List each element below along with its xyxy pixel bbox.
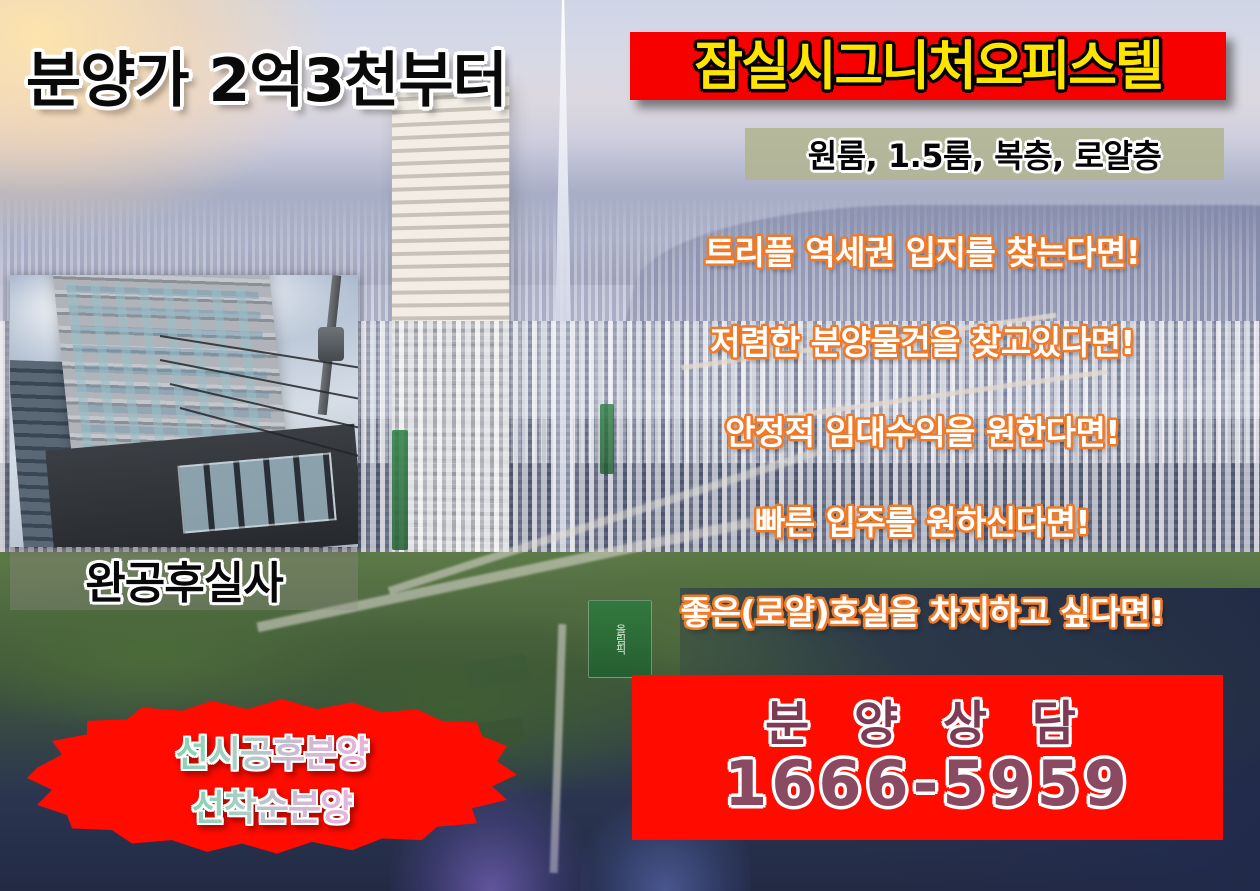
unit-types-text: 원룸, 1.5룸, 복층, 로얄층	[808, 131, 1162, 177]
selling-point-1: 트리플 역세권 입지를 찾는다면!	[600, 226, 1245, 274]
unit-types-bar: 원룸, 1.5룸, 복층, 로얄층	[745, 128, 1224, 180]
photo-podium-windows	[177, 452, 336, 533]
promo-gear-badge: 선시공후분양 선착순분양	[22, 694, 522, 862]
selling-point-4: 빠른 입주를 원하신다면!	[600, 496, 1245, 544]
price-headline: 분양가 2억3천부터	[26, 32, 507, 119]
selling-point-3: 안정적 임대수익을 원한다면!	[600, 406, 1245, 454]
advertisement-poster: 올림픽 분양가 2억3천부터 잠실시그니처오피스텔 원룸, 1.5룸, 복층, …	[0, 0, 1260, 891]
street-sign-green-1	[392, 430, 408, 550]
contact-box[interactable]: 분 양 상 담 1666-5959	[632, 675, 1223, 840]
gear-badge-text: 선시공후분양 선착순분양	[22, 694, 522, 862]
selling-point-2: 저렴한 분양물건을 찾고있다면!	[600, 316, 1245, 364]
property-name-title: 잠실시그니처오피스텔	[694, 40, 1162, 93]
photo-caption-strip: 완공후실사	[10, 548, 358, 610]
photo-transformer	[318, 327, 344, 361]
completed-building-photo	[10, 275, 358, 547]
contact-phone-number[interactable]: 1666-5959	[724, 751, 1131, 816]
gear-badge-line-1: 선시공후분양	[176, 725, 369, 777]
photo-caption-text: 완공후실사	[85, 547, 282, 611]
gear-badge-line-2: 선착순분양	[192, 779, 353, 831]
selling-points-list: 트리플 역세권 입지를 찾는다면! 저렴한 분양물건을 찾고있다면! 안정적 임…	[600, 226, 1245, 634]
title-banner: 잠실시그니처오피스텔	[630, 32, 1226, 100]
contact-label: 분 양 상 담	[765, 699, 1090, 749]
selling-point-5: 좋은(로얄)호실을 차지하고 싶다면!	[600, 586, 1245, 634]
